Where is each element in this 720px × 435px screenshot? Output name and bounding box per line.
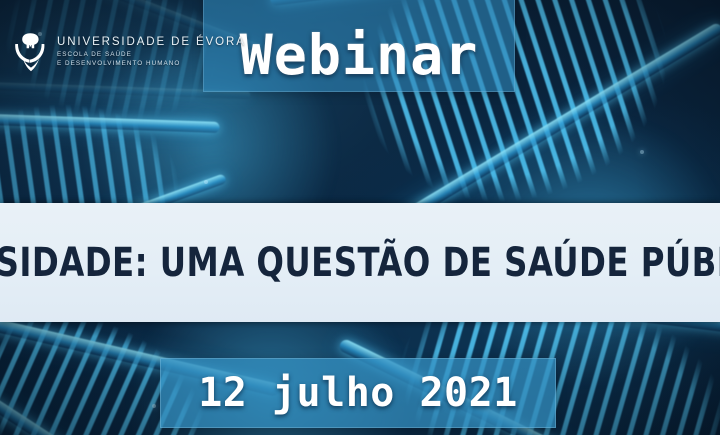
poster-title: OBESIDADE: UMA QUESTÃO DE SAÚDE PÚBLICA bbox=[0, 240, 720, 286]
university-logo-text: UNIVERSIDADE DE ÉVORA ESCOLA DE SAÚDE E … bbox=[57, 35, 246, 68]
university-logo: UNIVERSIDADE DE ÉVORA ESCOLA DE SAÚDE E … bbox=[14, 30, 246, 74]
date-badge: 12 julho 2021 bbox=[160, 358, 556, 428]
title-banner: OBESIDADE: UMA QUESTÃO DE SAÚDE PÚBLICA bbox=[0, 203, 720, 322]
universidade-de-evora-emblem-icon bbox=[14, 30, 48, 74]
webinar-badge: Webinar bbox=[203, 0, 515, 92]
school-name-line-1: ESCOLA DE SAÚDE bbox=[57, 50, 246, 59]
webinar-poster: UNIVERSIDADE DE ÉVORA ESCOLA DE SAÚDE E … bbox=[0, 0, 720, 435]
event-date: 12 julho 2021 bbox=[198, 370, 518, 416]
university-name: UNIVERSIDADE DE ÉVORA bbox=[57, 35, 246, 49]
webinar-badge-label: Webinar bbox=[240, 28, 479, 91]
school-name-line-2: E DESENVOLVIMENTO HUMANO bbox=[57, 59, 246, 68]
